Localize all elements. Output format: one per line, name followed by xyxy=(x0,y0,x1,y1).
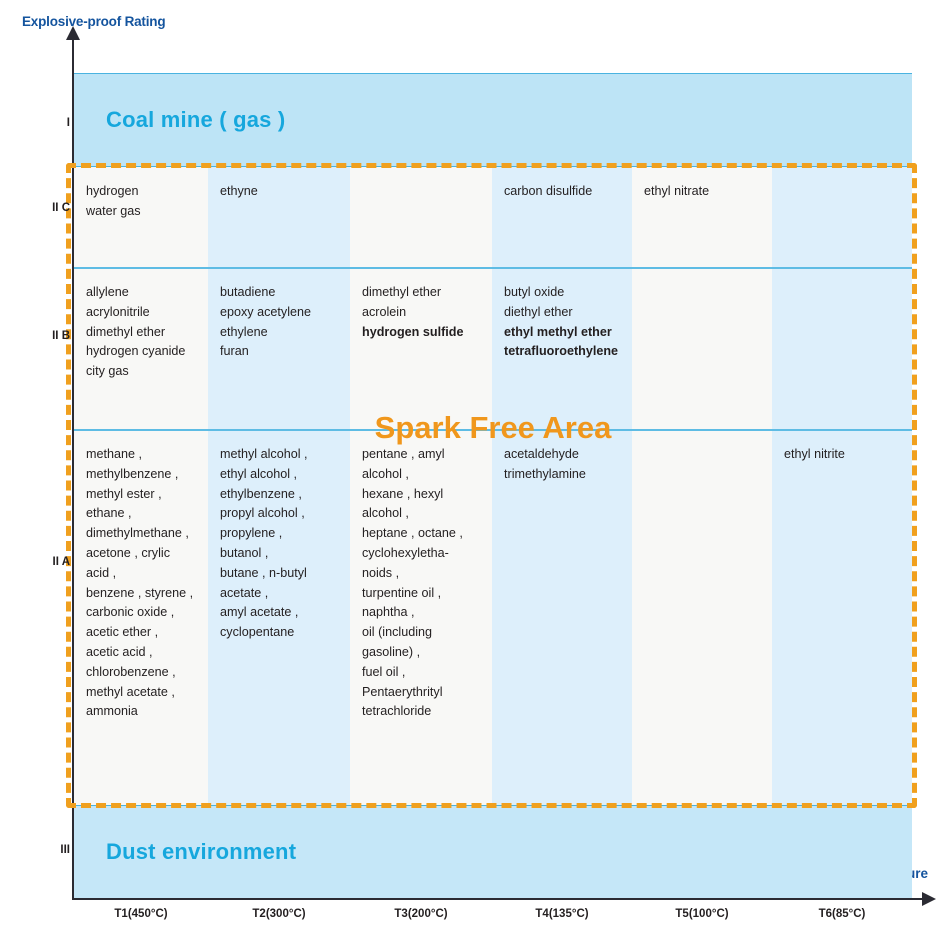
band-dust-environment-label: Dust environment xyxy=(106,839,296,865)
x-tick-label-t2: T2(300°C) xyxy=(208,908,350,920)
cell-iib-t3: dimethyl etheracroleinhydrogen sulfide xyxy=(350,269,492,429)
cell-iib-t1: allylene acrylonitrile dimethyl ether hy… xyxy=(74,269,208,429)
x-tick-label-t1: T1(450°C) xyxy=(74,908,208,920)
cell-line: hydrogen sulfide xyxy=(362,323,482,343)
cell-line: tetrafluoroethylene xyxy=(504,342,622,362)
cell-line: diethyl ether xyxy=(504,303,622,323)
x-axis-line xyxy=(72,898,924,900)
cell-iic-t6 xyxy=(772,168,912,267)
x-tick-label-t5: T5(100°C) xyxy=(632,908,772,920)
cell-line: dimethyl ether xyxy=(362,283,482,303)
cell-iib-t5 xyxy=(632,269,772,429)
explosion-proof-rating-chart: Explosive-proof Rating Temperature Coal … xyxy=(0,0,944,942)
band-coal-mine-label: Coal mine ( gas ) xyxy=(106,107,285,133)
cell-iia-t1: methane , methylbenzene , methyl ester ,… xyxy=(74,431,208,805)
cell-line: ethyl methyl ether xyxy=(504,323,622,343)
x-tick-labels: T1(450°C) T2(300°C) T3(200°C) T4(135°C) … xyxy=(74,908,912,920)
cell-iia-t2: methyl alcohol , ethyl alcohol , ethylbe… xyxy=(208,431,350,805)
table-row-iia: methane , methylbenzene , methyl ester ,… xyxy=(74,431,912,805)
cell-iic-t2: ethyne xyxy=(208,168,350,267)
cell-iic-t3 xyxy=(350,168,492,267)
x-tick-label-t6: T6(85°C) xyxy=(772,908,912,920)
cell-iia-t5 xyxy=(632,431,772,805)
band-dust-environment: Dust environment xyxy=(74,805,912,898)
cell-iic-t4: carbon disulfide xyxy=(492,168,632,267)
cell-iia-t6: ethyl nitrite xyxy=(772,431,912,805)
y-axis-arrow-icon xyxy=(66,26,80,40)
cell-iic-t1: hydrogen water gas xyxy=(74,168,208,267)
y-axis-title: Explosive-proof Rating xyxy=(22,14,165,29)
x-tick-label-t3: T3(200°C) xyxy=(350,908,492,920)
cell-line: acrolein xyxy=(362,303,482,323)
cell-line: butyl oxide xyxy=(504,283,622,303)
x-axis-arrow-icon xyxy=(922,892,936,906)
plot-area: Coal mine ( gas ) hydrogen water gas eth… xyxy=(74,73,912,898)
y-tick-label-iib: II B xyxy=(52,330,70,342)
table-row-iib: allylene acrylonitrile dimethyl ether hy… xyxy=(74,269,912,429)
cell-iia-t3: pentane , amyl alcohol , hexane , hexyl … xyxy=(350,431,492,805)
cell-iia-t4: acetaldehyde trimethylamine xyxy=(492,431,632,805)
y-tick-label-i: I xyxy=(67,117,70,129)
cell-iib-t4: butyl oxidediethyl etherethyl methyl eth… xyxy=(492,269,632,429)
band-coal-mine: Coal mine ( gas ) xyxy=(74,73,912,167)
cell-iib-t2: butadiene epoxy acetylene ethylene furan xyxy=(208,269,350,429)
table-row-iic: hydrogen water gas ethyne carbon disulfi… xyxy=(74,168,912,267)
x-tick-label-t4: T4(135°C) xyxy=(492,908,632,920)
cell-iic-t5: ethyl nitrate xyxy=(632,168,772,267)
y-tick-label-iii: III xyxy=(60,844,70,856)
y-tick-label-iia: II A xyxy=(53,556,70,568)
y-tick-label-iic: II C xyxy=(52,202,70,214)
cell-iib-t6 xyxy=(772,269,912,429)
